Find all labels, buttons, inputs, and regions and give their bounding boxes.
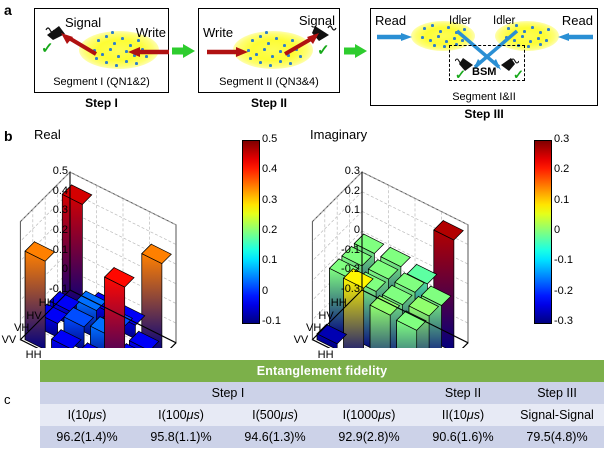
colorbar-tick-label: -0.1: [262, 315, 281, 327]
colorbar-tick-label: 0.1: [554, 194, 569, 206]
flow-arrow-2: [344, 42, 368, 60]
z-axis-tick-label: -0.3: [328, 283, 360, 295]
step-3-caption: Step III: [370, 107, 598, 121]
panel-a-protocol: a ✓ Signal Write Segment I (QN1: [0, 0, 604, 120]
segment-label-3: Segment I&II: [371, 91, 597, 103]
colorbar-tick-label: -0.1: [554, 254, 573, 266]
table-column-header: I(1000μs): [322, 404, 416, 426]
read-arrow-left: [377, 31, 413, 43]
write-label-2: Write: [203, 25, 233, 40]
real-colorbar: [242, 140, 260, 324]
step-2-caption: Step II: [198, 96, 340, 110]
imaginary-colorbar: [534, 140, 552, 324]
colorbar-tick-label: 0.2: [554, 163, 569, 175]
step-1-caption: Step I: [34, 96, 169, 110]
y-axis-tick-label: VV: [2, 334, 17, 346]
step-3-box: Read Read Idler Idler ✓ ✓ BSM: [370, 8, 598, 106]
table-column-header-row: I(10μs)I(100μs)I(500μs)I(1000μs)II(10μs)…: [40, 404, 604, 426]
y-axis-tick-label: HH: [39, 297, 55, 309]
check-icon-1: ✓: [41, 41, 54, 56]
read-label-left: Read: [375, 13, 406, 28]
colorbar-tick-label: 0.3: [554, 133, 569, 145]
step-2-box: Write ✓ Signal Segment II (QN3&4): [198, 8, 340, 93]
colorbar-tick-label: 0.5: [262, 133, 277, 145]
colorbar-tick-label: 0.3: [262, 194, 277, 206]
read-label-right: Read: [562, 13, 593, 28]
panel-b-tomography: b Real Imaginary 0.50.40.30.20.10-0.1 0.…: [0, 122, 604, 358]
write-arrow-1: [127, 45, 169, 59]
signal-label-1: Signal: [65, 15, 101, 30]
table-group-header-row: Step I Step II Step III: [40, 382, 604, 404]
colorbar-tick-label: 0.2: [262, 224, 277, 236]
colorbar-tick-label: -0.2: [554, 285, 573, 297]
z-axis-tick-label: 0: [328, 224, 360, 236]
panel-c-fidelity-table: Entanglement fidelity Step I Step II Ste…: [40, 360, 604, 448]
z-axis-tick-label: 0.3: [328, 165, 360, 177]
y-axis-tick-label: HV: [26, 310, 41, 322]
y-axis-tick-label: HH: [331, 297, 347, 309]
signal-arrow-1: [59, 31, 99, 57]
bsm-label: BSM: [472, 66, 496, 78]
table-title: Entanglement fidelity: [40, 360, 604, 382]
table-cell-fidelity: 79.5(4.8)%: [510, 426, 604, 448]
y-axis-tick-label: VH: [306, 322, 321, 334]
z-axis-tick-label: 0.4: [36, 185, 68, 197]
panel-a-label: a: [4, 2, 12, 18]
group-header-step-1: Step I: [40, 382, 416, 404]
table-cell-fidelity: 90.6(1.6)%: [416, 426, 510, 448]
panel-c-label: c: [4, 392, 11, 407]
colorbar-tick-label: -0.3: [554, 315, 573, 327]
table-cell-fidelity: 95.8(1.1)%: [134, 426, 228, 448]
colorbar-tick-label: 0: [262, 285, 268, 297]
z-axis-tick-label: -0.1: [328, 244, 360, 256]
table-cell-fidelity: 92.9(2.8)%: [322, 426, 416, 448]
check-icon-bsm-right: ✓: [513, 68, 524, 81]
write-arrow-2: [207, 45, 249, 59]
y-axis-tick-label: HV: [318, 310, 333, 322]
table-title-row: Entanglement fidelity: [40, 360, 604, 382]
colorbar-tick-label: 0.4: [262, 163, 277, 175]
z-axis-tick-label: 0.1: [328, 204, 360, 216]
z-axis-tick-label: 0.2: [328, 185, 360, 197]
signal-label-2: Signal: [299, 13, 335, 28]
table-column-header: Signal-Signal: [510, 404, 604, 426]
idler-label-right: Idler: [493, 15, 515, 27]
colorbar-tick-label: 0.1: [262, 254, 277, 266]
idler-label-left: Idler: [449, 15, 471, 27]
fidelity-table: Entanglement fidelity Step I Step II Ste…: [40, 360, 604, 448]
group-header-step-2: Step II: [416, 382, 510, 404]
y-axis-tick-label: VV: [294, 334, 309, 346]
write-label-1: Write: [136, 25, 166, 40]
table-cell-fidelity: 96.2(1.4)%: [40, 426, 134, 448]
check-icon-bsm-left: ✓: [455, 68, 466, 81]
z-axis-tick-label: 0.1: [36, 244, 68, 256]
table-column-header: I(500μs): [228, 404, 322, 426]
table-column-header: I(100μs): [134, 404, 228, 426]
segment-label-2: Segment II (QN3&4): [199, 76, 339, 88]
z-axis-tick-label: -0.1: [36, 283, 68, 295]
colorbar-tick-label: 0: [554, 224, 560, 236]
z-axis-tick-label: 0.5: [36, 165, 68, 177]
signal-arrow-2: [283, 31, 321, 57]
z-axis-tick-label: 0.3: [36, 204, 68, 216]
table-cell-fidelity: 94.6(1.3)%: [228, 426, 322, 448]
group-header-step-3: Step III: [510, 382, 604, 404]
segment-label-1: Segment I (QN1&2): [35, 76, 168, 88]
z-axis-tick-label: 0.2: [36, 224, 68, 236]
z-axis-tick-label: -0.2: [328, 263, 360, 275]
step-1-box: ✓ Signal Write Segment I (QN1&2): [34, 8, 169, 93]
y-axis-tick-label: VH: [14, 322, 29, 334]
flow-arrow-1: [172, 42, 196, 60]
z-axis-tick-label: 0: [36, 263, 68, 275]
table-value-row: 96.2(1.4)%95.8(1.1)%94.6(1.3)%92.9(2.8)%…: [40, 426, 604, 448]
table-column-header: I(10μs): [40, 404, 134, 426]
read-arrow-right: [557, 31, 593, 43]
table-column-header: II(10μs): [416, 404, 510, 426]
